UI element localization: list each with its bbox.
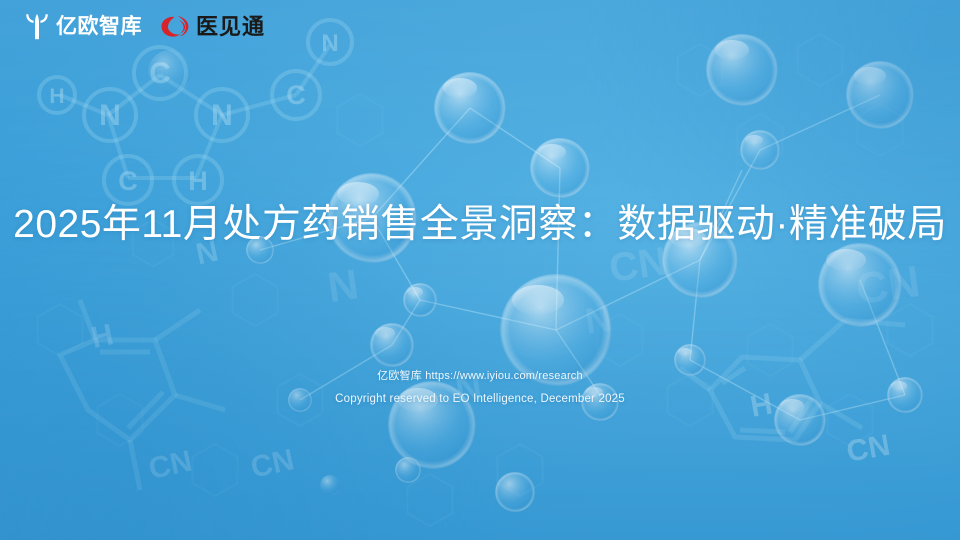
page-title: 2025年11月处方药销售全景洞察：数据驱动·精准破局	[0, 203, 960, 248]
logo-yijiantong-label: 医见通	[196, 16, 265, 38]
footer: 亿欧智库 https://www.iyiou.com/research Copy…	[0, 368, 960, 407]
logo-bar: 亿欧智库 医见通	[24, 13, 265, 40]
logo-eo-intelligence[interactable]: 亿欧智库	[24, 13, 142, 40]
yjt-swoosh-mark-icon	[160, 14, 190, 40]
logo-yijiantong[interactable]: 医见通	[160, 14, 265, 40]
background-vignette	[0, 0, 960, 540]
footer-source-url[interactable]: 亿欧智库 https://www.iyiou.com/research	[0, 368, 960, 384]
logo-eo-intelligence-label: 亿欧智库	[56, 16, 142, 37]
footer-copyright: Copyright reserved to EO Intelligence, D…	[0, 391, 960, 407]
eo-tree-mark-icon	[24, 13, 50, 40]
slide-root: H N C N C C H N H CN CN N	[0, 0, 960, 540]
